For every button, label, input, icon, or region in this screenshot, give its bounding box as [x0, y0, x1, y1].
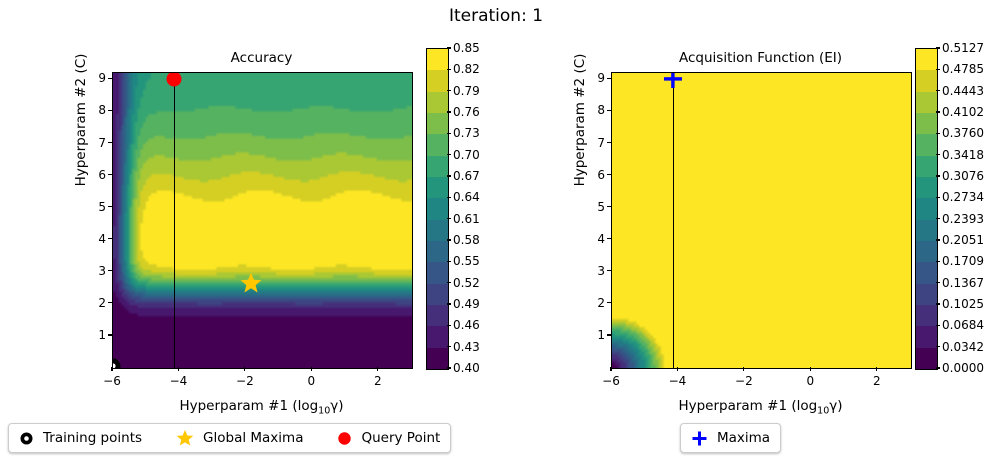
colorbar-band [427, 262, 448, 283]
figure-suptitle: Iteration: 1 [0, 6, 992, 26]
colorbar-tick-mark [447, 111, 451, 112]
left-legend[interactable]: Training points Global Maxima Query Poin… [8, 423, 451, 453]
right-ytick-mark [607, 238, 611, 239]
acquisition-contour-field [612, 73, 911, 368]
acquisition-colorbar[interactable] [915, 48, 938, 370]
training-point-icon [19, 431, 34, 446]
colorbar-tick-mark [936, 282, 940, 283]
right-ytick-mark [607, 78, 611, 79]
colorbar-band [916, 348, 937, 369]
legend-entry-query-point[interactable]: Query Point [337, 430, 440, 446]
right-y-axis-label-text: Hyperparam #2 (C) [572, 54, 588, 187]
colorbar-tick-mark [936, 47, 940, 48]
right-ytick-mark [607, 142, 611, 143]
colorbar-band [916, 156, 937, 177]
maxima-marker [664, 72, 682, 88]
left-ytick-mark [108, 334, 112, 335]
colorbar-band [916, 134, 937, 155]
colorbar-tick-label: 0.0342 [942, 340, 984, 354]
query-vertical-line [174, 73, 175, 368]
colorbar-tick-label: 0.1367 [942, 276, 984, 290]
right-plot-title: Acquisition Function (EI) [611, 50, 910, 66]
colorbar-tick-mark [936, 346, 940, 347]
colorbar-tick-mark [936, 111, 940, 112]
colorbar-tick-mark [936, 367, 940, 368]
left-ytick-mark [108, 302, 112, 303]
colorbar-tick-label: 0.0000 [942, 361, 984, 375]
legend-label-maxima: Maxima [717, 430, 770, 446]
legend-label-global-maxima: Global Maxima [203, 430, 303, 446]
colorbar-band [427, 284, 448, 305]
colorbar-tick-label: 0.1025 [942, 297, 984, 311]
colorbar-tick-label: 0.40 [453, 361, 480, 375]
left-xtick-label: 2 [374, 374, 382, 388]
colorbar-tick-label: 0.4102 [942, 105, 984, 119]
training-point-marker [112, 358, 121, 369]
plus-icon [691, 430, 708, 447]
colorbar-tick-label: 0.3076 [942, 169, 984, 183]
right-xtick-label: −4 [669, 374, 687, 388]
colorbar-band [427, 156, 448, 177]
colorbar-tick-label: 0.85 [453, 41, 480, 55]
colorbar-tick-label: 0.43 [453, 340, 480, 354]
colorbar-tick-label: 0.0684 [942, 318, 984, 332]
left-ytick-label: 1 [82, 328, 106, 342]
left-ytick-label: 4 [82, 232, 106, 246]
right-x-label-prefix: Hyperparam #1 (log [678, 398, 817, 414]
colorbar-tick-label: 0.67 [453, 169, 480, 183]
colorbar-tick-label: 0.61 [453, 212, 480, 226]
right-x-axis-label: Hyperparam #1 (log10γ) [611, 398, 910, 417]
colorbar-tick-label: 0.82 [453, 62, 480, 76]
left-x-label-sub: 10 [318, 406, 330, 417]
colorbar-tick-mark [447, 239, 451, 240]
colorbar-tick-label: 0.70 [453, 148, 480, 162]
colorbar-band [916, 326, 937, 347]
colorbar-tick-mark [936, 261, 940, 262]
colorbar-tick-mark [936, 325, 940, 326]
right-ytick-mark [607, 302, 611, 303]
colorbar-tick-label: 0.4443 [942, 84, 984, 98]
colorbar-band [427, 177, 448, 198]
colorbar-band [427, 326, 448, 347]
left-ytick-label: 2 [82, 296, 106, 310]
left-xtick-mark [377, 367, 378, 371]
colorbar-band [916, 220, 937, 241]
query-point-icon [337, 431, 352, 446]
colorbar-tick-mark [936, 175, 940, 176]
right-ytick-mark [607, 334, 611, 335]
acquisition-contour-plot[interactable] [611, 72, 912, 369]
legend-entry-training-points[interactable]: Training points [19, 430, 142, 446]
colorbar-tick-mark [447, 69, 451, 70]
colorbar-band [427, 348, 448, 369]
colorbar-tick-mark [447, 367, 451, 368]
colorbar-tick-label: 0.2393 [942, 212, 984, 226]
right-ytick-label: 3 [581, 264, 605, 278]
left-ytick-mark [108, 110, 112, 111]
colorbar-band [916, 70, 937, 91]
colorbar-tick-mark [447, 303, 451, 304]
colorbar-tick-label: 0.1709 [942, 254, 984, 268]
colorbar-tick-mark [936, 133, 940, 134]
colorbar-band [427, 134, 448, 155]
right-ytick-label: 2 [581, 296, 605, 310]
left-xtick-label: −2 [236, 374, 254, 388]
colorbar-tick-label: 0.79 [453, 84, 480, 98]
maxima-vertical-line [673, 73, 674, 368]
colorbar-band [916, 198, 937, 219]
colorbar-band [427, 305, 448, 326]
left-xtick-mark [178, 367, 179, 371]
colorbar-band [427, 198, 448, 219]
right-xtick-mark [610, 367, 611, 371]
right-ytick-mark [607, 110, 611, 111]
colorbar-band [916, 92, 937, 113]
colorbar-tick-label: 0.3418 [942, 148, 984, 162]
left-ytick-mark [108, 174, 112, 175]
left-ytick-mark [108, 142, 112, 143]
legend-entry-global-maxima[interactable]: Global Maxima [176, 429, 303, 447]
legend-label-training-points: Training points [43, 430, 142, 446]
colorbar-tick-label: 0.58 [453, 233, 480, 247]
colorbar-tick-label: 0.2734 [942, 190, 984, 204]
colorbar-tick-label: 0.73 [453, 126, 480, 140]
colorbar-band [916, 113, 937, 134]
colorbar-tick-mark [936, 90, 940, 91]
left-x-label-suffix: γ) [330, 398, 343, 414]
left-y-axis-label: Hyperparam #2 (C) [73, 20, 89, 220]
left-y-axis-label-text: Hyperparam #2 (C) [73, 54, 89, 187]
legend-label-query-point: Query Point [361, 430, 440, 446]
left-ytick-mark [108, 238, 112, 239]
colorbar-tick-mark [936, 197, 940, 198]
colorbar-tick-mark [447, 197, 451, 198]
colorbar-tick-mark [447, 261, 451, 262]
colorbar-tick-mark [447, 325, 451, 326]
colorbar-tick-mark [447, 218, 451, 219]
colorbar-tick-mark [447, 175, 451, 176]
colorbar-tick-mark [447, 154, 451, 155]
colorbar-tick-label: 0.5127 [942, 41, 984, 55]
right-ytick-label: 4 [581, 232, 605, 246]
colorbar-band [916, 241, 937, 262]
left-xtick-label: −4 [170, 374, 188, 388]
left-xtick-mark [244, 367, 245, 371]
colorbar-tick-label: 0.4785 [942, 62, 984, 76]
colorbar-tick-label: 0.55 [453, 254, 480, 268]
colorbar-band [427, 49, 448, 70]
left-ytick-mark [108, 78, 112, 79]
colorbar-tick-mark [936, 239, 940, 240]
colorbar-band [916, 284, 937, 305]
colorbar-tick-mark [447, 90, 451, 91]
right-y-axis-label: Hyperparam #2 (C) [572, 20, 588, 220]
left-xtick-mark [311, 367, 312, 371]
right-ytick-mark [607, 270, 611, 271]
colorbar-tick-label: 0.52 [453, 276, 480, 290]
colorbar-tick-mark [447, 47, 451, 48]
right-xtick-mark [876, 367, 877, 371]
colorbar-tick-mark [447, 282, 451, 283]
global-maxima-marker [240, 272, 262, 294]
right-x-label-suffix: γ) [829, 398, 842, 414]
colorbar-tick-label: 0.49 [453, 297, 480, 311]
left-xtick-label: 0 [308, 374, 316, 388]
right-xtick-mark [810, 367, 811, 371]
right-x-label-sub: 10 [817, 406, 829, 417]
right-xtick-label: −2 [735, 374, 753, 388]
colorbar-tick-label: 0.76 [453, 105, 480, 119]
left-ytick-mark [108, 206, 112, 207]
left-x-axis-label: Hyperparam #1 (log10γ) [112, 398, 411, 417]
left-ytick-label: 3 [82, 264, 106, 278]
colorbar-tick-mark [447, 346, 451, 347]
colorbar-band [427, 70, 448, 91]
right-xtick-label: 0 [807, 374, 815, 388]
colorbar-tick-mark [936, 303, 940, 304]
colorbar-band [916, 177, 937, 198]
left-xtick-mark [111, 367, 112, 371]
colorbar-tick-mark [936, 218, 940, 219]
accuracy-contour-plot[interactable] [112, 72, 413, 369]
colorbar-tick-label: 0.2051 [942, 233, 984, 247]
colorbar-tick-label: 0.3760 [942, 126, 984, 140]
accuracy-contour-field [113, 73, 412, 368]
query-point-marker [166, 72, 182, 87]
right-ytick-label: 1 [581, 328, 605, 342]
accuracy-colorbar[interactable] [426, 48, 449, 370]
star-icon [176, 429, 194, 447]
colorbar-tick-mark [447, 133, 451, 134]
right-legend[interactable]: Maxima [680, 423, 781, 453]
left-ytick-mark [108, 270, 112, 271]
right-xtick-label: −6 [602, 374, 620, 388]
legend-entry-maxima[interactable]: Maxima [691, 430, 770, 447]
colorbar-band [916, 305, 937, 326]
colorbar-tick-label: 0.46 [453, 318, 480, 332]
left-xtick-label: −6 [103, 374, 121, 388]
colorbar-band [916, 262, 937, 283]
right-ytick-mark [607, 206, 611, 207]
right-ytick-mark [607, 174, 611, 175]
colorbar-tick-mark [936, 69, 940, 70]
right-xtick-mark [677, 367, 678, 371]
colorbar-band [427, 113, 448, 134]
colorbar-band [427, 92, 448, 113]
colorbar-band [916, 49, 937, 70]
colorbar-band [427, 220, 448, 241]
colorbar-tick-label: 0.64 [453, 190, 480, 204]
figure-canvas: Iteration: 1 Accuracy 123456789 −6−4−202… [0, 0, 992, 457]
colorbar-tick-mark [936, 154, 940, 155]
left-plot-title: Accuracy [112, 50, 411, 66]
right-xtick-mark [743, 367, 744, 371]
colorbar-band [427, 241, 448, 262]
left-x-label-prefix: Hyperparam #1 (log [179, 398, 318, 414]
right-xtick-label: 2 [873, 374, 881, 388]
